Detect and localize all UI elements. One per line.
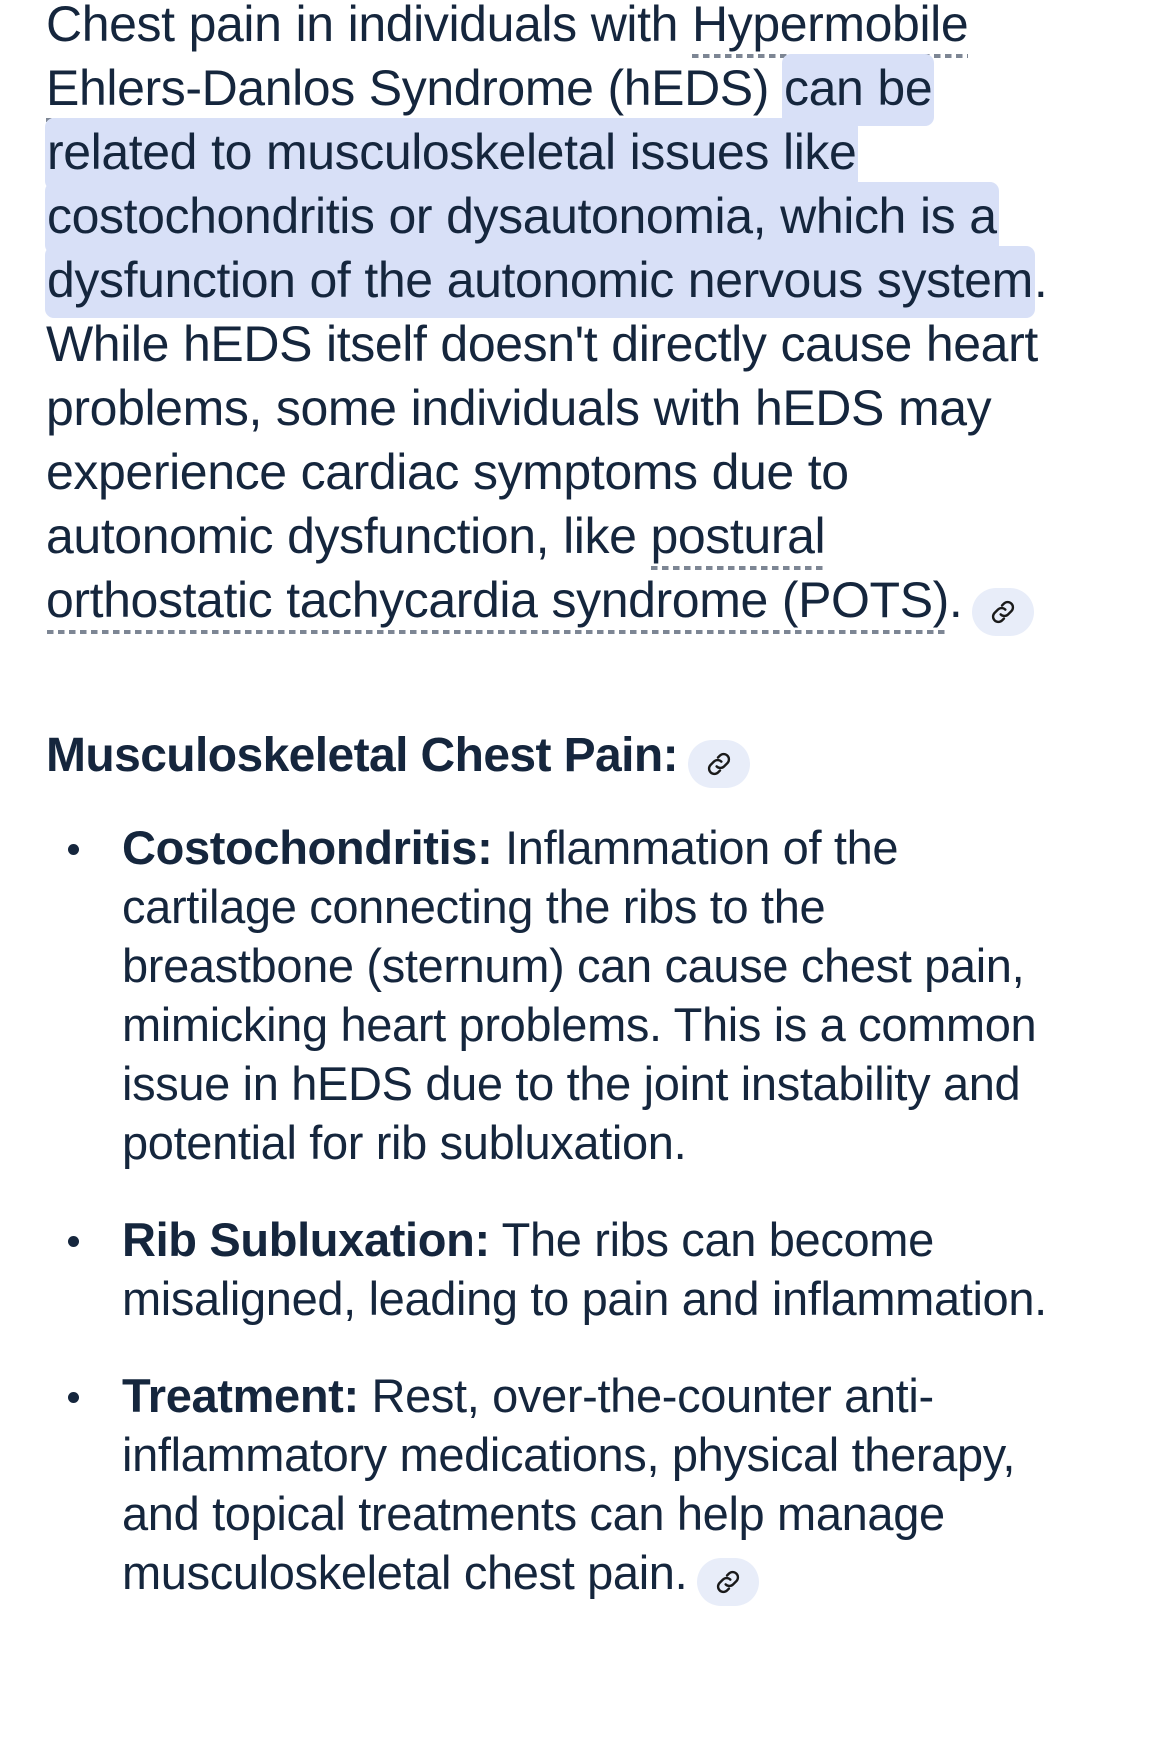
list-item: Rib Subluxation: The ribs can become mis… (46, 1210, 1056, 1328)
paragraph-lead-text: Chest pain in individuals with (46, 0, 692, 52)
link-icon (704, 749, 734, 779)
link-icon-chip-paragraph[interactable] (972, 588, 1034, 636)
link-icon (713, 1567, 743, 1597)
list-item: Costochondritis: Inflammation of the car… (46, 818, 1056, 1172)
paragraph-mid-text: (hEDS) (594, 60, 784, 116)
list-item-term: Rib Subluxation: (122, 1213, 490, 1266)
list-item: Treatment: Rest, over-the-counter anti-i… (46, 1366, 1056, 1606)
section-heading-label: Musculoskeletal Chest Pain: (46, 729, 678, 782)
overview-content: Chest pain in individuals with Hypermobi… (46, 0, 1056, 1606)
bullet-marker-icon (68, 1392, 79, 1403)
link-icon-chip-heading[interactable] (688, 740, 750, 788)
musculoskeletal-bullet-list: Costochondritis: Inflammation of the car… (46, 818, 1056, 1606)
list-item-term: Costochondritis: (122, 821, 492, 874)
paragraph-final-period: . (949, 572, 963, 628)
overview-paragraph: Chest pain in individuals with Hypermobi… (46, 0, 1056, 636)
ai-overview-page: Chest pain in individuals with Hypermobi… (0, 0, 1170, 1756)
link-icon-chip-treatment[interactable] (697, 1558, 759, 1606)
bullet-marker-icon (68, 844, 79, 855)
list-item-term: Treatment: (122, 1369, 359, 1422)
link-icon (988, 597, 1018, 627)
bullet-marker-icon (68, 1236, 79, 1247)
section-heading-musculoskeletal-chest-pain: Musculoskeletal Chest Pain: (46, 726, 1056, 788)
